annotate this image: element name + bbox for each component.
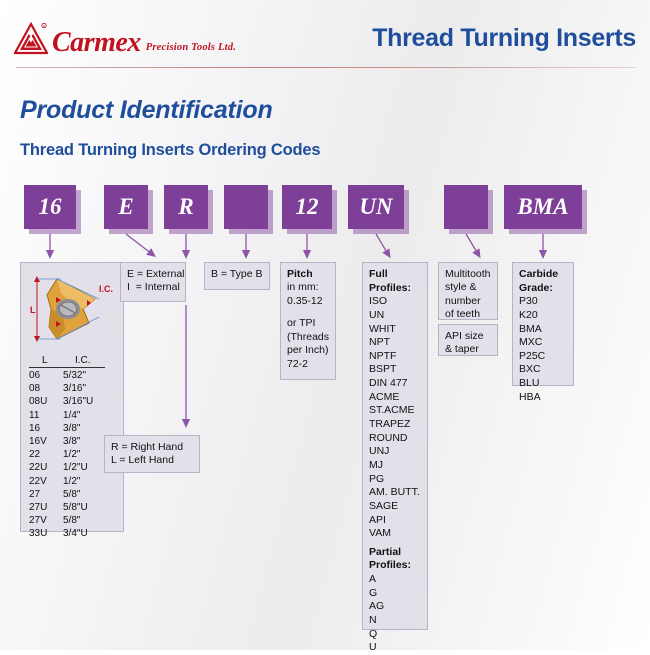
partial-profiles-head-2: Profiles: [369, 559, 421, 573]
size-table-header: L I.C. [29, 355, 105, 368]
dim-label-ic: I.C. [99, 284, 113, 294]
insert-diagram-box: L I.C. L I.C. 065/32"083/16"08U3/16"U111… [20, 262, 124, 532]
grade-head-2: Grade: [519, 282, 567, 296]
size-l-value: 22 [29, 448, 63, 461]
size-table-row: 163/8" [29, 422, 119, 435]
size-table-row: 275/8" [29, 488, 119, 501]
multitooth-box: Multitooth style & number of teeth [438, 262, 498, 320]
dim-label-l: L [30, 305, 36, 315]
multitooth-line-3: number [445, 295, 491, 308]
size-table-col-ic: I.C. [61, 355, 105, 366]
external-line: E = External [127, 268, 179, 281]
size-ic-value: 1/4" [63, 409, 111, 422]
size-table-col-l: L [29, 355, 61, 366]
partial-profiles-list: AGAGNQU [369, 573, 421, 655]
insert-illustration: L I.C. [21, 265, 125, 351]
header-divider [16, 67, 636, 68]
grade-item: P25C [519, 350, 567, 364]
pitch-mm-label: in mm: [287, 281, 329, 294]
logo-tagline: Precision Tools Ltd. [146, 42, 236, 53]
size-table-row: 27V5/8" [29, 514, 119, 527]
size-ic-value: 3/16" [63, 382, 111, 395]
page-header: R Carmex Precision Tools Ltd. Thread Tur… [0, 0, 650, 70]
full-profile-item: ROUND [369, 432, 421, 446]
code-box-multitooth[interactable] [444, 185, 488, 229]
code-box-external-internal[interactable]: E [104, 185, 148, 229]
partial-profile-item: U [369, 641, 421, 655]
size-table-row: 065/32" [29, 369, 119, 382]
full-profile-item: BSPT [369, 363, 421, 377]
partial-profile-item: A [369, 573, 421, 587]
size-table-row: 33U3/4"U [29, 527, 119, 540]
full-profile-item: DIN 477 [369, 377, 421, 391]
header-title: Thread Turning Inserts [372, 24, 636, 53]
api-line-2: & taper [445, 343, 491, 356]
right-hand-line: R = Right Hand [111, 441, 193, 454]
full-profile-item: UN [369, 309, 421, 323]
size-l-value: 22U [29, 461, 63, 474]
size-l-value: 16 [29, 422, 63, 435]
size-l-value: 08U [29, 395, 63, 408]
code-box-hand[interactable]: R [164, 185, 208, 229]
full-profile-item: VAM [369, 527, 421, 541]
multitooth-line-1: Multitooth [445, 268, 491, 281]
code-box-type[interactable] [224, 185, 268, 229]
size-l-value: 06 [29, 369, 63, 382]
full-profile-item: MJ [369, 459, 421, 473]
full-profile-item: NPTF [369, 350, 421, 364]
size-l-value: 27 [29, 488, 63, 501]
pitch-tpi-note1: (Threads [287, 331, 329, 344]
size-l-value: 27U [29, 501, 63, 514]
code-box-profile[interactable]: UN [348, 185, 404, 229]
page-subtitle: Thread Turning Inserts Ordering Codes [20, 141, 320, 160]
partial-profile-item: Q [369, 628, 421, 642]
size-ic-value: 3/4"U [63, 527, 111, 540]
full-profile-item: NPT [369, 336, 421, 350]
size-ic-value: 3/8" [63, 422, 111, 435]
full-profile-item: SAGE [369, 500, 421, 514]
pitch-box: Pitch in mm: 0.35-12 or TPI (Threads per… [280, 262, 336, 380]
type-line: B = Type B [211, 268, 263, 281]
grade-item: K20 [519, 309, 567, 323]
size-table-row: 08U3/16"U [29, 395, 119, 408]
full-profiles-head-2: Profiles: [369, 282, 421, 296]
size-l-value: 16V [29, 435, 63, 448]
partial-profile-item: AG [369, 600, 421, 614]
size-ic-value: 1/2" [63, 475, 111, 488]
size-table-row: 083/16" [29, 382, 119, 395]
size-ic-value: 5/8" [63, 488, 111, 501]
api-line-1: API size [445, 330, 491, 343]
pitch-head: Pitch [287, 268, 329, 281]
grade-item: BLU [519, 377, 567, 391]
internal-line: I = Internal [127, 281, 179, 294]
size-ic-value: 5/32" [63, 369, 111, 382]
pitch-tpi-range: 72-2 [287, 358, 329, 371]
size-l-value: 08 [29, 382, 63, 395]
external-internal-box: E = External I = Internal [120, 262, 186, 302]
profiles-box: Full Profiles: ISOUNWHITNPTNPTFBSPTDIN 4… [362, 262, 428, 630]
grade-list: P30K20BMAMXCP25CBXCBLUHBA [519, 295, 567, 404]
full-profile-item: AM. BUTT. [369, 486, 421, 500]
grade-item: BXC [519, 363, 567, 377]
type-box: B = Type B [204, 262, 270, 290]
full-profile-item: WHIT [369, 323, 421, 337]
partial-profiles-head-1: Partial [369, 546, 421, 560]
pitch-tpi-label: or TPI [287, 317, 329, 330]
code-box-size[interactable]: 16 [24, 185, 76, 229]
direction-box: R = Right Hand L = Left Hand [104, 435, 200, 473]
partial-profile-item: G [369, 587, 421, 601]
grade-item: BMA [519, 323, 567, 337]
size-ic-value: 5/8"U [63, 501, 111, 514]
partial-profile-item: N [369, 614, 421, 628]
left-hand-line: L = Left Hand [111, 454, 193, 467]
full-profile-item: ACME [369, 391, 421, 405]
size-l-value: 27V [29, 514, 63, 527]
size-ic-value: 3/16"U [63, 395, 111, 408]
pitch-tpi-note2: per Inch) [287, 344, 329, 357]
page-background: R Carmex Precision Tools Ltd. Thread Tur… [0, 0, 650, 650]
grade-item: HBA [519, 391, 567, 405]
multitooth-line-2: style & [445, 281, 491, 294]
logo-wordmark: Carmex [52, 29, 141, 57]
full-profiles-head-1: Full [369, 268, 421, 282]
size-l-value: 11 [29, 409, 63, 422]
full-profile-item: API [369, 514, 421, 528]
code-box-pitch[interactable]: 12 [282, 185, 332, 229]
carmex-logo: R Carmex Precision Tools Ltd. [14, 22, 236, 56]
full-profile-item: TRAPEZ [369, 418, 421, 432]
carmex-triangle-logo-icon: R [14, 22, 48, 56]
size-ic-value: 5/8" [63, 514, 111, 527]
full-profile-item: ISO [369, 295, 421, 309]
full-profile-item: ST.ACME [369, 404, 421, 418]
size-table-row: 111/4" [29, 409, 119, 422]
size-table-row: 27U5/8"U [29, 501, 119, 514]
full-profile-item: PG [369, 473, 421, 487]
grade-item: MXC [519, 336, 567, 350]
api-size-box: API size & taper [438, 324, 498, 356]
full-profile-item: UNJ [369, 445, 421, 459]
size-l-value: 22V [29, 475, 63, 488]
code-box-grade[interactable]: BMA [504, 185, 582, 229]
grade-item: P30 [519, 295, 567, 309]
size-l-value: 33U [29, 527, 63, 540]
carbide-grade-box: Carbide Grade: P30K20BMAMXCP25CBXCBLUHBA [512, 262, 574, 386]
grade-head-1: Carbide [519, 268, 567, 282]
page-title: Product Identification [20, 96, 273, 125]
pitch-mm-range: 0.35-12 [287, 295, 329, 308]
multitooth-line-4: of teeth [445, 308, 491, 321]
full-profiles-list: ISOUNWHITNPTNPTFBSPTDIN 477ACMEST.ACMETR… [369, 295, 421, 541]
size-table-row: 22V1/2" [29, 475, 119, 488]
connector-hand-arrow [150, 305, 230, 437]
